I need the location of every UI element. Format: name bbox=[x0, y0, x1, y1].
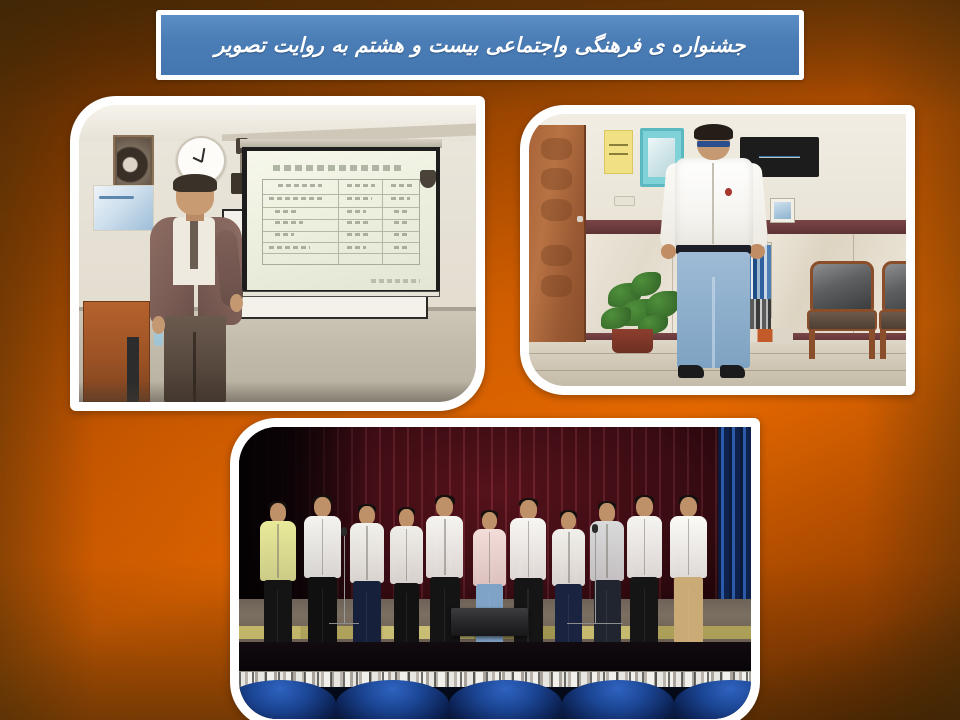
right-shoe bbox=[720, 365, 745, 378]
chair-seat bbox=[879, 310, 906, 332]
shirt bbox=[510, 518, 546, 580]
microphone-stand-right bbox=[595, 529, 596, 622]
floor-shadow bbox=[79, 381, 476, 402]
chair-seat bbox=[807, 310, 876, 332]
microphone-stand-left bbox=[344, 532, 345, 623]
shirt bbox=[627, 516, 662, 579]
head bbox=[599, 503, 615, 523]
slide-table bbox=[262, 179, 421, 265]
mic-base-left bbox=[329, 623, 360, 625]
title-banner: جشنواره ی فرهنگی واجتماعی بیست و هشتم به… bbox=[156, 10, 804, 80]
shirt bbox=[260, 521, 295, 582]
head bbox=[359, 506, 375, 525]
chair-back bbox=[810, 261, 873, 312]
plant-pot bbox=[612, 329, 653, 353]
shirt bbox=[304, 516, 340, 579]
yellow-notice-sign bbox=[604, 130, 632, 174]
screen-bottom-bar bbox=[242, 291, 441, 298]
page-title: جشنواره ی فرهنگی واجتماعی بیست و هشتم به… bbox=[215, 33, 746, 57]
shirt bbox=[390, 526, 422, 584]
chair-legs bbox=[809, 329, 875, 358]
head bbox=[436, 497, 453, 517]
head bbox=[561, 512, 576, 531]
wooden-door[interactable] bbox=[529, 125, 586, 343]
head bbox=[636, 497, 652, 517]
photo-classroom bbox=[79, 105, 476, 402]
head bbox=[482, 512, 497, 531]
shirt bbox=[426, 516, 463, 579]
shirt bbox=[670, 516, 707, 579]
shirt bbox=[552, 529, 585, 586]
hair bbox=[173, 174, 217, 192]
floor-monitor-speaker bbox=[451, 608, 528, 636]
standing-person bbox=[665, 128, 763, 381]
chair-back bbox=[882, 261, 906, 312]
small-wall-frame bbox=[770, 198, 795, 222]
armchair-left bbox=[804, 261, 879, 359]
slide-footer bbox=[371, 279, 420, 283]
stage-apron bbox=[239, 642, 751, 674]
title-banner-inner: جشنواره ی فرهنگی واجتماعی بیست و هشتم به… bbox=[161, 15, 799, 75]
head bbox=[680, 497, 697, 517]
wall-outlet bbox=[614, 196, 635, 207]
armchair-right bbox=[876, 261, 906, 359]
audience-seats bbox=[239, 687, 751, 719]
white-shirt bbox=[675, 158, 753, 249]
wall-poster bbox=[93, 185, 155, 231]
shirt bbox=[473, 529, 506, 586]
eyeglasses-icon bbox=[697, 141, 730, 147]
necktie bbox=[190, 219, 198, 269]
blue-jeans bbox=[677, 252, 750, 368]
photo-frame-stage bbox=[230, 418, 760, 720]
head bbox=[520, 500, 537, 520]
left-shoe bbox=[678, 365, 703, 378]
photo-frame-lobby bbox=[520, 105, 915, 395]
head bbox=[399, 509, 414, 528]
right-hand bbox=[230, 294, 243, 312]
chair-legs bbox=[880, 329, 906, 358]
audience-seat bbox=[449, 680, 562, 719]
slide-heading bbox=[273, 165, 405, 171]
right-hand bbox=[749, 244, 765, 259]
photo-stage bbox=[239, 427, 751, 719]
head bbox=[314, 497, 331, 517]
door-handle[interactable] bbox=[577, 216, 583, 221]
shirt bbox=[350, 523, 384, 582]
left-hand bbox=[661, 244, 677, 259]
photo-lobby bbox=[529, 114, 906, 386]
projection-screen-frame bbox=[242, 147, 441, 296]
mic-base-right bbox=[567, 623, 623, 625]
hair bbox=[694, 124, 733, 140]
tv-screen bbox=[759, 156, 800, 158]
head bbox=[270, 503, 286, 523]
presenter-person bbox=[146, 176, 245, 402]
photo-frame-classroom bbox=[70, 96, 485, 411]
projection-screen bbox=[247, 151, 436, 290]
